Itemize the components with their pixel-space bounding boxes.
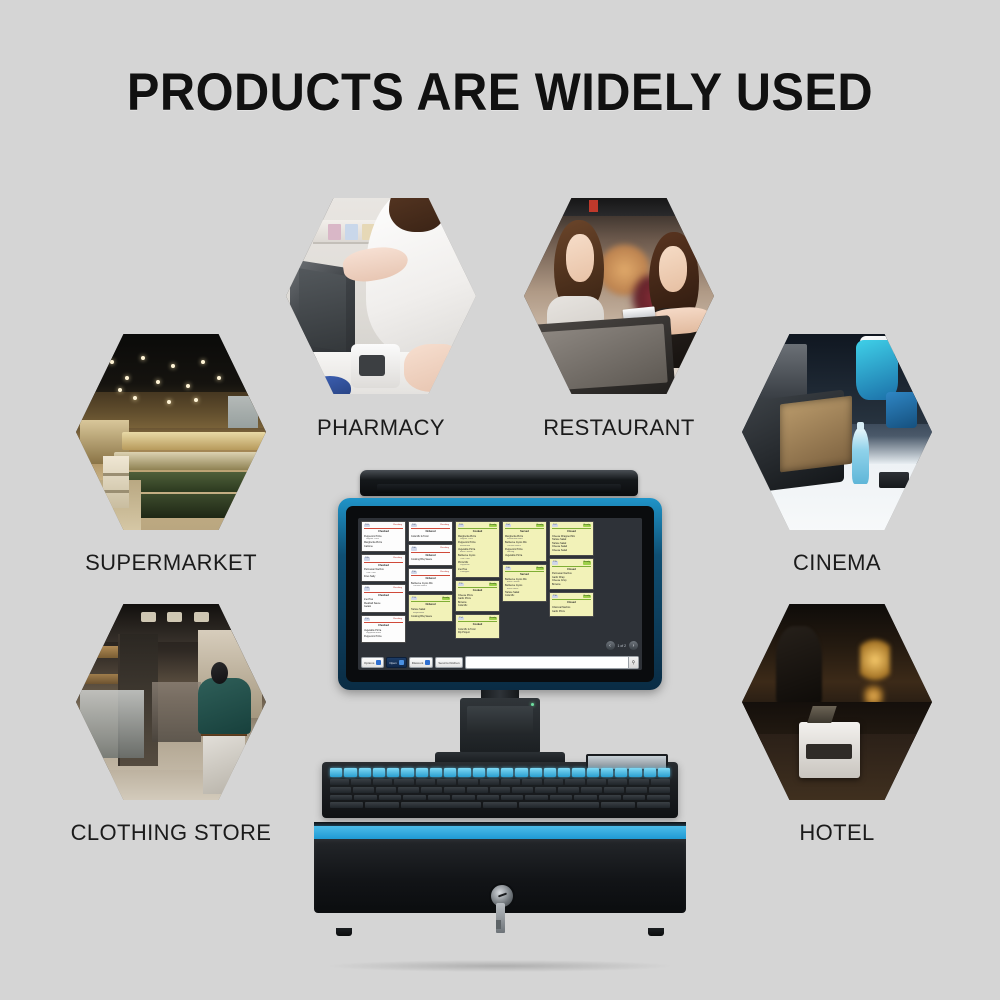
- drawer-foot: [648, 928, 664, 936]
- ticket-line-item: Cooking Bbq Sauce: [411, 615, 450, 618]
- ticket-status-badge: Ready: [489, 617, 497, 620]
- order-ticket[interactable]: T09CheckingCheckedIced TeaMeatball Sauce…: [361, 584, 406, 612]
- ticket-title: Cooked: [458, 530, 497, 534]
- pos-monitor: T01CheckingCheckedPepperoni PizzaRegular…: [338, 498, 662, 690]
- keyboard-key-rows[interactable]: [330, 779, 670, 808]
- ticket-code: T13: [411, 597, 417, 600]
- ticket-title: Ordered: [411, 603, 450, 607]
- prev-page-icon[interactable]: ‹: [606, 641, 615, 650]
- ticket-line-item: Gelato: [364, 605, 403, 608]
- ticket-column: T01CheckingCheckedPepperoni PizzaRegular…: [361, 521, 406, 667]
- order-ticket[interactable]: T08ReadyServedBarbecue Gyros MixExtra Ch…: [502, 564, 547, 602]
- ticket-line-item: Cola Mix & Tonic: [411, 535, 450, 538]
- ticket-title: Closed: [552, 601, 591, 605]
- ticket-line-item: Brownie: [552, 583, 591, 586]
- drop-shadow: [330, 960, 670, 972]
- ticket-status-badge: Checking: [392, 587, 403, 590]
- toolbar-button[interactable]: Discount: [409, 657, 434, 668]
- ticket-title: Checked: [364, 594, 403, 598]
- drawer-foot: [336, 928, 352, 936]
- order-ticket[interactable]: T06CheckingOrderedCooking Bbq Sauce: [408, 544, 453, 565]
- ticket-code: T03: [458, 524, 464, 527]
- toolbar-button[interactable]: Options: [361, 657, 384, 668]
- hex-photo-restaurant: [524, 196, 714, 396]
- pagination-control[interactable]: ‹ 1 of 2 ›: [606, 641, 638, 650]
- keyboard-row[interactable]: [330, 787, 670, 793]
- order-ticket[interactable]: T03ReadyCookedMargherita PizzaRegular Cr…: [455, 521, 500, 578]
- ticket-line-item: Cooking Bbq Sauce: [411, 558, 450, 561]
- toolbar-button-label: Options: [364, 661, 374, 665]
- receipt-printer: [460, 698, 540, 754]
- pos-toolbar[interactable]: OptionsOpenDiscountSend to Kitchen⚲: [361, 657, 639, 668]
- toolbar-button-label: Open: [389, 661, 396, 665]
- hex-label-pharmacy: PHARMACY: [286, 415, 476, 441]
- pos-monitor-bezel: T01CheckingCheckedPepperoni PizzaRegular…: [346, 506, 654, 682]
- ticket-line-modifier: Pineapple: [458, 571, 497, 574]
- hex-tile-pharmacy[interactable]: [286, 196, 476, 396]
- ticket-title: Served: [505, 530, 544, 534]
- ticket-divider: [364, 592, 403, 593]
- pos-terminal: T01CheckingCheckedPepperoni PizzaRegular…: [300, 470, 700, 960]
- ticket-title: Ordered: [411, 554, 450, 558]
- cash-drawer-accent-band: [314, 822, 686, 839]
- ticket-status-badge: Ready: [442, 597, 450, 600]
- order-ticket[interactable]: T14ReadyCookedCola Mix & TonicDip Projec…: [455, 614, 500, 639]
- ticket-code: T10: [411, 571, 417, 574]
- rear-customer-display: [360, 470, 638, 496]
- ticket-line-item: Cola Mix: [505, 594, 544, 597]
- hex-tile-restaurant[interactable]: [524, 196, 714, 396]
- ticket-divider: [552, 566, 591, 567]
- ticket-divider: [411, 575, 450, 576]
- ticket-line-item: Vegetable Pizza: [505, 554, 544, 557]
- order-ticket[interactable]: T12CheckingCheckedVegetable PizzaPeppero…: [361, 615, 406, 643]
- order-ticket[interactable]: T16ReadyClosedCharcoal NachosGarlic Pizz…: [549, 592, 594, 617]
- ticket-code: T04: [505, 524, 511, 527]
- next-page-icon[interactable]: ›: [629, 641, 638, 650]
- ticket-line-item: Dip Project: [458, 631, 497, 634]
- hex-tile-supermarket[interactable]: [76, 332, 266, 532]
- toolbar-button-icon: [399, 660, 404, 665]
- keyboard-row[interactable]: [330, 802, 670, 808]
- ticket-title: Closed: [552, 530, 591, 534]
- ticket-title: Checked: [364, 624, 403, 628]
- ticket-title: Closed: [552, 568, 591, 572]
- hex-tile-clothing-store[interactable]: [76, 602, 266, 802]
- hex-label-restaurant: RESTAURANT: [524, 415, 714, 441]
- order-ticket[interactable]: T07ReadyClosedCheese Wrapped MixTartare …: [549, 521, 594, 556]
- pos-screen[interactable]: T01CheckingCheckedPepperoni PizzaRegular…: [358, 518, 642, 670]
- order-ticket[interactable]: T05CheckingCheckedParmesan NachosThin Cr…: [361, 554, 406, 582]
- ticket-title: Checked: [364, 530, 403, 534]
- ticket-code: T06: [411, 547, 417, 550]
- hex-tile-cinema[interactable]: [742, 332, 932, 532]
- ticket-status-badge: Ready: [583, 561, 591, 564]
- ticket-line-item: Cola Mix: [458, 604, 497, 607]
- hex-photo-supermarket: [76, 332, 266, 532]
- ticket-status-badge: Checking: [392, 618, 403, 621]
- toolbar-button-label: Discount: [412, 661, 424, 665]
- ticket-code: T14: [458, 617, 464, 620]
- keyboard-row[interactable]: [330, 779, 670, 785]
- ticket-status-badge: Checking: [439, 547, 450, 550]
- cash-drawer[interactable]: [314, 822, 686, 930]
- ticket-line-item: Calzone: [364, 545, 403, 548]
- ticket-line-item: Fries Salty: [364, 575, 403, 578]
- order-ticket[interactable]: T15ReadyClosedParmesan NachosGarlic Wrap…: [549, 558, 594, 590]
- ticket-status-badge: Checking: [392, 557, 403, 560]
- ticket-code: T05: [364, 557, 370, 560]
- ticket-status-badge: Ready: [583, 524, 591, 527]
- order-ticket-board[interactable]: T01CheckingCheckedPepperoni PizzaRegular…: [358, 518, 597, 670]
- ticket-code: T09: [364, 587, 370, 590]
- ticket-line-item: Pepperoni Pizza: [364, 635, 403, 638]
- toolbar-button-label: Send to Kitchen: [438, 661, 459, 665]
- page-title: PRODUCTS ARE WIDELY USED: [40, 62, 960, 123]
- ticket-divider: [364, 622, 403, 623]
- hex-photo-clothing-store: [76, 602, 266, 802]
- ticket-divider: [505, 571, 544, 572]
- hex-photo-hotel: [742, 602, 932, 802]
- ticket-column: T07ReadyClosedCheese Wrapped MixTartare …: [549, 521, 594, 667]
- ticket-column: T02CheckingOrderedCola Mix & TonicT06Che…: [408, 521, 453, 667]
- search-input[interactable]: ⚲: [465, 656, 639, 669]
- ticket-status-badge: Checking: [439, 524, 450, 527]
- keyboard-row[interactable]: [330, 795, 670, 801]
- ticket-code: T01: [364, 524, 370, 527]
- order-ticket[interactable]: T13ReadyOrderedTartare SaladMayonnaiseCo…: [408, 594, 453, 622]
- ticket-title: Cooked: [458, 623, 497, 627]
- ticket-column: T03ReadyCookedMargherita PizzaRegular Cr…: [455, 521, 500, 667]
- ticket-code: T12: [364, 618, 370, 621]
- hex-label-cinema: CINEMA: [742, 550, 932, 576]
- ticket-code: T11: [458, 583, 464, 586]
- ticket-column: T04ReadyServedMargherita PizzaMozzarella…: [502, 521, 547, 667]
- ticket-status-badge: Ready: [583, 595, 591, 598]
- keyboard-backlight-row: [330, 768, 670, 777]
- ticket-status-badge: Checking: [439, 571, 450, 574]
- ticket-title: Ordered: [411, 530, 450, 534]
- ticket-code: T16: [552, 595, 558, 598]
- cash-drawer-face[interactable]: [314, 839, 686, 913]
- page-indicator: 1 of 2: [618, 644, 626, 648]
- ticket-status-badge: Ready: [489, 583, 497, 586]
- printer-status-led: [531, 703, 534, 706]
- ticket-code: T08: [505, 567, 511, 570]
- hex-tile-hotel[interactable]: [742, 602, 932, 802]
- ticket-title: Ordered: [411, 577, 450, 581]
- ticket-line-item: Garlic Pizza: [552, 610, 591, 613]
- drawer-key[interactable]: [496, 903, 505, 933]
- ticket-code: T07: [552, 524, 558, 527]
- ticket-line-item: Cheese Salad: [552, 549, 591, 552]
- hex-photo-pharmacy: [286, 196, 476, 396]
- hex-label-hotel: HOTEL: [742, 820, 932, 846]
- ticket-divider: [411, 552, 450, 553]
- ticket-code: T15: [552, 561, 558, 564]
- ticket-divider: [458, 621, 497, 622]
- poster-canvas: PRODUCTS ARE WIDELY USED PHARMACY: [0, 0, 1000, 1000]
- order-ticket[interactable]: T02CheckingOrderedCola Mix & Tonic: [408, 521, 453, 542]
- toolbar-button-icon: [376, 660, 381, 665]
- order-ticket[interactable]: T11ReadyCookedCheese PizzaGarlic PizzaBr…: [455, 580, 500, 612]
- board-empty-area: ‹ 1 of 2 ›: [597, 518, 642, 670]
- order-ticket[interactable]: T10CheckingOrderedBarbecue Gyros MixCock…: [408, 568, 453, 592]
- ticket-divider: [364, 562, 403, 563]
- toolbar-button[interactable]: Open: [386, 657, 406, 668]
- hex-label-supermarket: SUPERMARKET: [46, 550, 296, 576]
- ticket-status-badge: Checking: [392, 524, 403, 527]
- hex-photo-cinema: [742, 332, 932, 532]
- ticket-status-badge: Ready: [536, 524, 544, 527]
- order-ticket[interactable]: T04ReadyServedMargherita PizzaMozzarella…: [502, 521, 547, 562]
- order-ticket[interactable]: T01CheckingCheckedPepperoni PizzaRegular…: [361, 521, 406, 552]
- pos-keyboard[interactable]: [322, 762, 678, 818]
- ticket-title: Cooked: [458, 589, 497, 593]
- toolbar-button[interactable]: Send to Kitchen: [435, 657, 462, 668]
- ticket-status-badge: Ready: [536, 567, 544, 570]
- search-icon[interactable]: ⚲: [628, 657, 638, 668]
- ticket-status-badge: Ready: [489, 524, 497, 527]
- hex-label-clothing-store: CLOTHING STORE: [36, 820, 306, 846]
- toolbar-button-icon: [425, 660, 430, 665]
- ticket-line-modifier: Cocktail Sauce: [411, 585, 450, 588]
- ticket-code: T02: [411, 524, 417, 527]
- ticket-title: Served: [505, 573, 544, 577]
- ticket-title: Checked: [364, 564, 403, 568]
